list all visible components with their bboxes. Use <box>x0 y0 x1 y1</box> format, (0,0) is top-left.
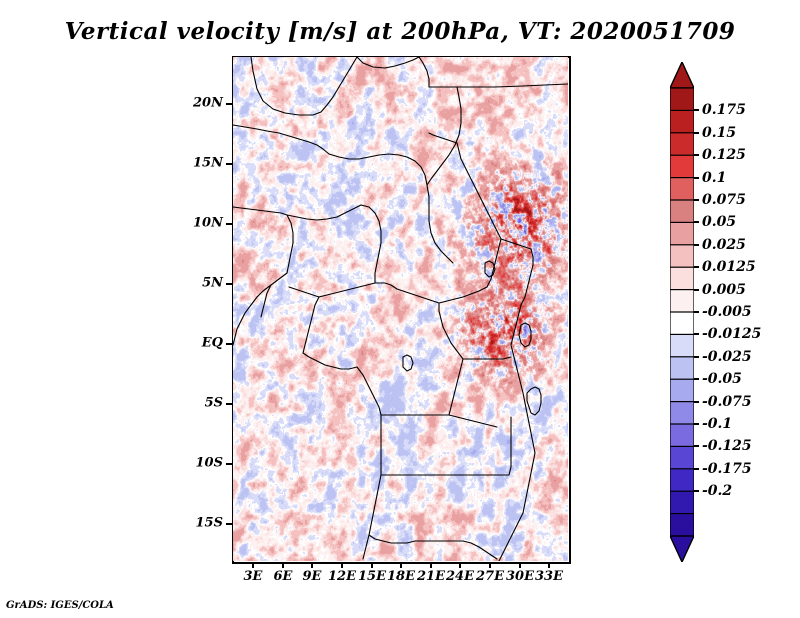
lon-tick-label: 33E <box>535 569 563 584</box>
axis-tick-x <box>489 562 491 568</box>
lon-tick-label: 12E <box>328 569 356 584</box>
colorbar-tick-label: -0.1 <box>702 416 732 432</box>
colorbar-tick <box>694 177 699 179</box>
axis-tick-y <box>226 223 232 225</box>
colorbar-tick <box>694 244 699 246</box>
lon-tick-label: 15E <box>358 569 386 584</box>
lon-tick-label: 3E <box>244 569 263 584</box>
lat-tick-label: 5S <box>205 396 223 411</box>
colorbar-tick-label: 0.05 <box>702 214 736 230</box>
axis-tick-y <box>226 523 232 525</box>
axis-tick-x <box>400 562 402 568</box>
colorbar-tick <box>694 199 699 201</box>
lat-tick-label: 15N <box>193 156 223 171</box>
colorbar-tick <box>694 289 699 291</box>
axis-tick-x <box>311 562 313 568</box>
colorbar-tick-label: 0.005 <box>702 282 746 298</box>
lon-tick-label: 24E <box>446 569 474 584</box>
colorbar-tick-label: -0.05 <box>702 371 742 387</box>
credit-label: GrADS: IGES/COLA <box>6 600 114 611</box>
axis-tick-x <box>282 562 284 568</box>
colorbar-tick-label: -0.175 <box>702 461 752 477</box>
colorbar-tick-label: -0.025 <box>702 349 752 365</box>
lat-tick-label: 5N <box>202 276 223 291</box>
colorbar-tick <box>694 221 699 223</box>
colorbar-tick <box>694 401 699 403</box>
colorbar-tick <box>694 154 699 156</box>
colorbar-tick <box>694 311 699 313</box>
lon-tick-label: 9E <box>303 569 322 584</box>
colorbar-tick <box>694 109 699 111</box>
colorbar-tick <box>694 445 699 447</box>
colorbar-tick-label: 0.175 <box>702 102 746 118</box>
axis-tick-y <box>226 403 232 405</box>
axis-tick-x <box>341 562 343 568</box>
axis-tick-y <box>226 103 232 105</box>
axis-tick-x <box>519 562 521 568</box>
lat-tick-label: 10S <box>196 456 223 471</box>
axis-tick-x <box>371 562 373 568</box>
lon-tick-label: 18E <box>387 569 415 584</box>
colorbar-tick-label: 0.025 <box>702 237 746 253</box>
colorbar-tick <box>694 333 699 335</box>
lat-tick-label: 15S <box>196 516 223 531</box>
colorbar-tick <box>694 378 699 380</box>
axis-tick-y <box>226 343 232 345</box>
axis-tick-y <box>226 163 232 165</box>
lat-tick-label: 10N <box>193 216 223 231</box>
lon-tick-label: 30E <box>506 569 534 584</box>
axis-tick-x <box>430 562 432 568</box>
lon-tick-label: 21E <box>417 569 445 584</box>
colorbar-tick-label: 0.125 <box>702 147 746 163</box>
lon-tick-label: 27E <box>476 569 504 584</box>
colorbar-tick <box>694 132 699 134</box>
colorbar[interactable]: 0.1750.150.1250.10.0750.050.0250.01250.0… <box>670 62 694 562</box>
colorbar-tick-label: -0.125 <box>702 438 752 454</box>
colorbar-tick-label: 0.1 <box>702 170 726 186</box>
colorbar-tick-label: 0.15 <box>702 125 736 141</box>
map-plot-area[interactable]: 20N 15N 10N 5N EQ 5S 10S 15S 3E 6E 9E 12… <box>233 57 568 561</box>
colorbar-tick <box>694 356 699 358</box>
colorbar-tick <box>694 468 699 470</box>
axis-tick-y <box>226 283 232 285</box>
lon-tick-label: 6E <box>274 569 293 584</box>
colorbar-tick-label: -0.005 <box>702 304 752 320</box>
country-borders-overlay <box>233 57 568 561</box>
colorbar-tick-label: -0.075 <box>702 394 752 410</box>
lat-tick-label: 20N <box>193 96 223 111</box>
axis-tick-x <box>459 562 461 568</box>
lat-tick-label: EQ <box>202 336 223 351</box>
axis-tick-x <box>252 562 254 568</box>
page-title: Vertical velocity [m/s] at 200hPa, VT: 2… <box>0 18 800 45</box>
colorbar-tick <box>694 423 699 425</box>
axis-tick-y <box>226 463 232 465</box>
colorbar-tick-label: 0.0125 <box>702 259 756 275</box>
colorbar-tick <box>694 266 699 268</box>
colorbar-tick-label: 0.075 <box>702 192 746 208</box>
colorbar-tick <box>694 490 699 492</box>
colorbar-tick-label: -0.2 <box>702 483 732 499</box>
axis-tick-x <box>548 562 550 568</box>
colorbar-tick-label: -0.0125 <box>702 326 761 342</box>
